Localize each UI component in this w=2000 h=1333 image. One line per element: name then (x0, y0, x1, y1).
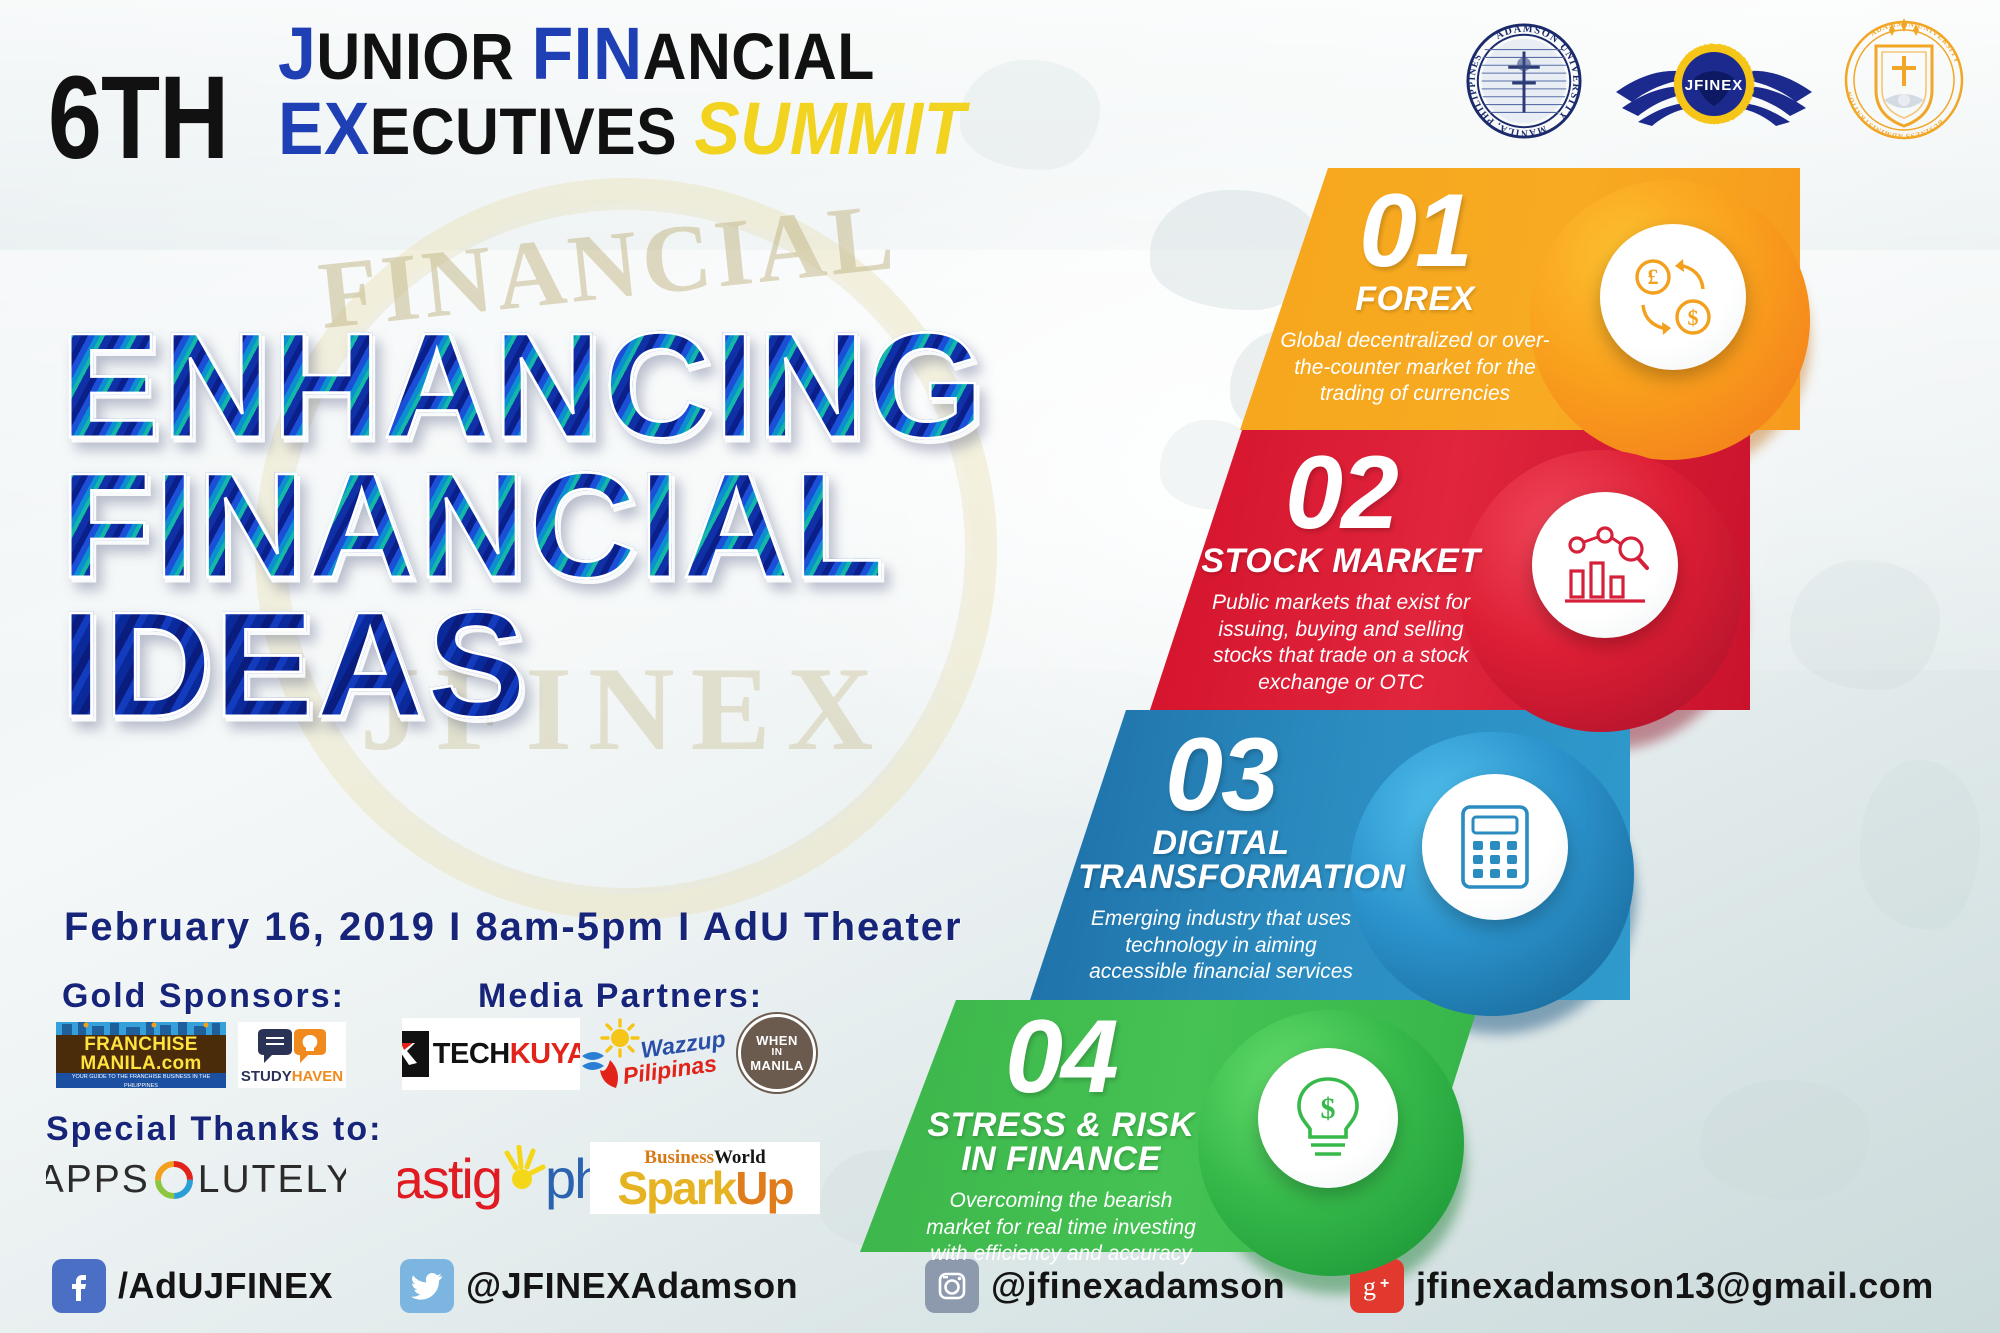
topic-card-02[interactable]: 02 STOCK MARKET Public markets that exis… (1150, 430, 1750, 710)
event-dateline: February 16, 2019 I 8am-5pm I AdU Theate… (64, 905, 963, 950)
sparkup-word1: Spark (617, 1162, 735, 1214)
appsolutely-pre: APPS (46, 1158, 150, 1202)
appsolutely-logo[interactable]: APPS LUTELY (46, 1150, 346, 1210)
svg-text:$: $ (1688, 305, 1699, 330)
title-unior: UNIOR (316, 19, 531, 93)
card-03-title-line-1: DIGITAL (1078, 826, 1364, 860)
card-01-title: FOREX (1280, 282, 1550, 316)
svg-text:g: g (1363, 1272, 1376, 1301)
title-summit: SUMMIT (694, 87, 965, 170)
study-haven-word2: HAVEN (292, 1068, 343, 1085)
study-haven-wordmark: STUDYHAVEN (241, 1069, 343, 1084)
lightbulb-dollar-icon: $ (1285, 1073, 1371, 1163)
title-fin: FIN (532, 12, 643, 95)
topic-card-01[interactable]: £ $ 01 FOREX Global decentralized or ove… (1240, 168, 1800, 430)
techkuya-logo[interactable]: TECHKUYA (402, 1018, 580, 1090)
card-02-icon-circle (1532, 492, 1678, 638)
topic-card-03[interactable]: 03 DIGITAL TRANSFORMATION Emerging indus… (1030, 710, 1630, 1000)
franchise-manila-line1: FRANCHISE (56, 1035, 226, 1054)
appsolutely-o-icon (152, 1158, 196, 1202)
title-ex: EX (278, 87, 370, 170)
card-02-title: STOCK MARKET (1194, 544, 1488, 578)
appsolutely-post: LUTELY (198, 1158, 346, 1202)
sparkup-wordmark: SparkUp (617, 1167, 792, 1209)
card-04-description: Overcoming the bearish market for real t… (918, 1188, 1204, 1269)
svg-text:£: £ (1648, 264, 1659, 289)
when-in-manila-ring: WHEN IN MANILA (738, 1014, 816, 1092)
study-haven-logo[interactable]: STUDYHAVEN (238, 1022, 346, 1088)
wazzup-word2: Pilipinas (621, 1050, 718, 1089)
astig-word1: astig (398, 1146, 501, 1211)
title-ecutives: ECUTIVES (370, 94, 695, 168)
franchise-manila-logo[interactable]: FRANCHISE MANILA.com YOUR GUIDE TO THE F… (56, 1022, 226, 1088)
title-block: 6TH JUNIOR FINANCIAL EXECUTIVES SUMMIT (48, 16, 948, 167)
card-04-number: 04 (918, 1010, 1204, 1106)
card-04-title-line-2: IN FINANCE (918, 1142, 1204, 1176)
wim-line3: MANILA (750, 1059, 804, 1072)
bg-splat-7 (1790, 560, 1940, 690)
social-twitter[interactable]: @JFINEXAdamson (400, 1259, 798, 1313)
edition-number: 6TH (48, 70, 228, 167)
currency-exchange-icon: £ $ (1627, 251, 1719, 343)
svg-text:JFINEX: JFINEX (1685, 77, 1744, 94)
card-03-icon-circle (1422, 774, 1568, 920)
card-03-number: 03 (1078, 728, 1364, 824)
title-line-1: JUNIOR FINANCIAL (278, 16, 966, 91)
svg-text:$: $ (1321, 1092, 1336, 1125)
poster-canvas: FINANCIAL JFINEX (0, 0, 2000, 1333)
card-02-description: Public markets that exist for issuing, b… (1194, 590, 1488, 698)
card-03-title-line-2: TRANSFORMATION (1078, 860, 1364, 894)
card-04-title-line-1: STRESS & RISK (918, 1108, 1204, 1142)
techkuya-word1: TECH (433, 1038, 510, 1070)
media-partners-label: Media Partners: (478, 977, 763, 1016)
franchise-manila-line2: MANILA.com (56, 1054, 226, 1073)
facebook-handle: /AdUJFINEX (118, 1265, 333, 1307)
astig-wordmark: astig ph (398, 1145, 598, 1211)
sparkup-word2: Up (735, 1162, 792, 1214)
twitter-handle: @JFINEXAdamson (466, 1265, 798, 1307)
techkuya-word2: KUYA (510, 1038, 580, 1070)
svg-text:+: + (1380, 1275, 1389, 1292)
techkuya-wordmark: TECHKUYA (433, 1038, 580, 1071)
business-administration-crest: ADAMSON UNIVERSITY BUSINESS ADMINISTRATI… (1838, 14, 1970, 140)
title-line-2: EXECUTIVES SUMMIT (278, 91, 966, 166)
card-03-description: Emerging industry that uses technology i… (1078, 906, 1364, 987)
title-ancial: ANCIAL (643, 19, 875, 93)
gold-sponsors-label: Gold Sponsors: (62, 977, 345, 1016)
bg-splat-9 (1700, 1080, 1870, 1200)
special-thanks-label: Special Thanks to: (46, 1110, 382, 1149)
adamson-university-seal: ADAMSON UNIVERSITY MANILA, PHILIPPINES (1465, 22, 1583, 140)
headline-line-2: FINANCIAL (60, 456, 1240, 596)
jfinex-logo: JFINEX JUNIOR FINANCIAL EXECUTIVE ADAMSO… (1608, 26, 1820, 138)
calculator-icon (1451, 801, 1539, 893)
astig-spark-icon (497, 1145, 549, 1211)
stock-chart-icon (1559, 519, 1651, 611)
study-haven-icon (254, 1027, 330, 1069)
study-haven-word1: STUDY (241, 1068, 292, 1085)
when-in-manila-logo[interactable]: WHEN IN MANILA (736, 1012, 818, 1094)
googleplus-handle: jfinexadamson13@gmail.com (1416, 1265, 1934, 1307)
headline-line-1: ENHANCING (60, 316, 1240, 456)
franchise-manila-tagline: YOUR GUIDE TO THE FRANCHISE BUSINESS IN … (56, 1073, 226, 1088)
bg-splat-8 (1860, 760, 1980, 930)
appsolutely-wordmark: APPS LUTELY (46, 1158, 346, 1202)
wim-line1: WHEN (756, 1034, 798, 1047)
card-02-number: 02 (1194, 446, 1488, 542)
topic-card-04[interactable]: $ 04 STRESS & RISK IN FINANCE Overcoming… (860, 1000, 1480, 1252)
card-04-icon-circle: $ (1258, 1048, 1398, 1188)
techkuya-mark (402, 1031, 429, 1077)
franchise-skyline-art (56, 1022, 226, 1035)
card-01-description: Global decentralized or over-the-counter… (1280, 328, 1550, 409)
facebook-icon[interactable] (52, 1259, 106, 1313)
wazzup-pilipinas-logo[interactable]: Wazzup Pilipinas (576, 1016, 726, 1092)
social-facebook[interactable]: /AdUJFINEX (52, 1259, 333, 1313)
astig-ph-logo[interactable]: astig ph (398, 1140, 598, 1216)
card-01-icon-circle: £ $ (1600, 224, 1746, 370)
title-j: J (278, 12, 316, 95)
businessworld-sparkup-logo[interactable]: BusinessWorld SparkUp (590, 1142, 820, 1214)
card-01-number: 01 (1280, 184, 1550, 280)
twitter-icon[interactable] (400, 1259, 454, 1313)
instagram-handle: @jfinexadamson (991, 1265, 1285, 1307)
headline-block: ENHANCING FINANCIAL IDEAS (60, 316, 1240, 735)
